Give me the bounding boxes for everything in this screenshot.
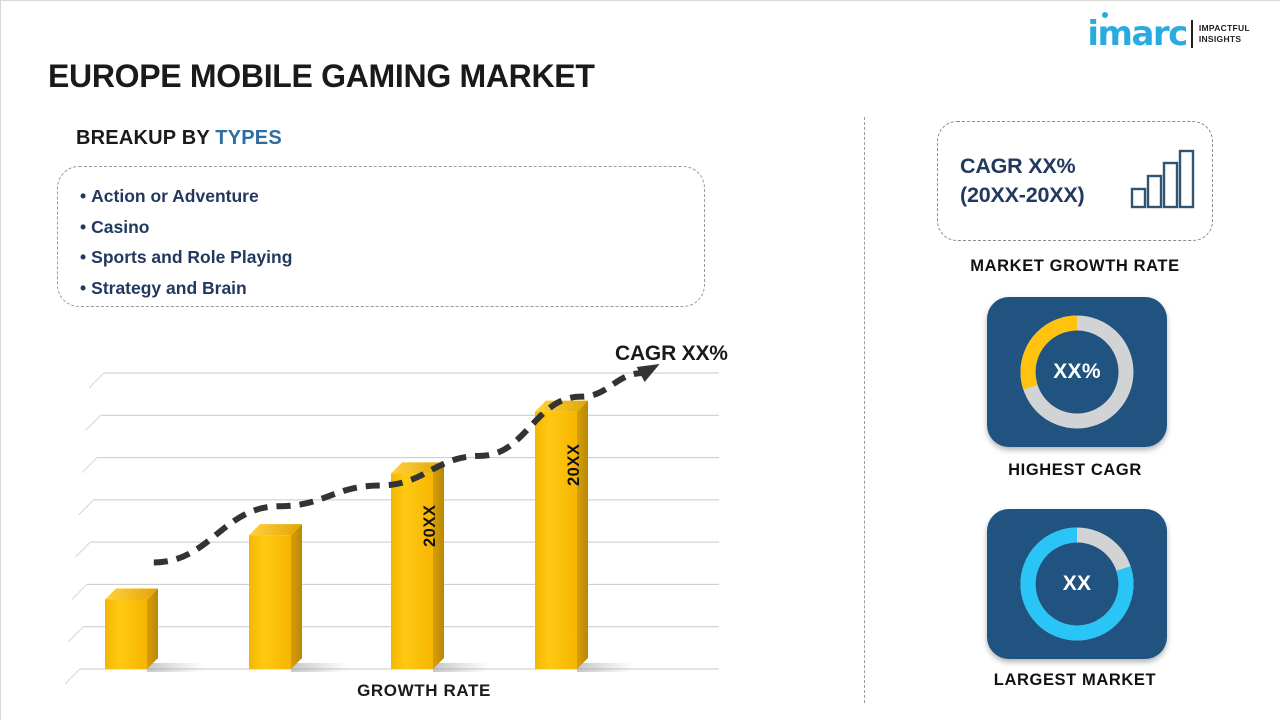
list-item: •Casino bbox=[80, 212, 704, 243]
subtitle-highlight: TYPES bbox=[215, 127, 282, 149]
highest-cagr-donut: XX% bbox=[1012, 307, 1142, 437]
growth-rate-chart bbox=[61, 331, 761, 711]
bullet-icon: • bbox=[80, 278, 86, 298]
cagr-period: (20XX-20XX) bbox=[960, 181, 1084, 210]
list-item: •Action or Adventure bbox=[80, 181, 704, 212]
largest-market-tile: XX bbox=[987, 509, 1167, 659]
logo-wordmark: imarc bbox=[1087, 17, 1186, 51]
market-growth-rate-label: MARKET GROWTH RATE bbox=[875, 257, 1275, 276]
largest-market-donut: XX bbox=[1012, 519, 1142, 649]
list-item-label: Sports and Role Playing bbox=[91, 247, 292, 267]
logo-tagline-line2: INSIGHTS bbox=[1199, 34, 1250, 45]
chart-bars bbox=[105, 401, 588, 669]
logo-tagline: IMPACTFUL INSIGHTS bbox=[1199, 23, 1250, 46]
list-item-label: Casino bbox=[91, 217, 149, 237]
subtitle-prefix: BREAKUP BY bbox=[76, 127, 215, 149]
largest-market-label: LARGEST MARKET bbox=[875, 671, 1275, 690]
logo-tagline-line1: IMPACTFUL bbox=[1199, 23, 1250, 34]
bar-value-label: 20XX bbox=[421, 505, 440, 547]
bar-chart-icon bbox=[1130, 149, 1196, 214]
largest-market-value: XX bbox=[1012, 519, 1142, 649]
bullet-icon: • bbox=[80, 186, 86, 206]
highest-cagr-tile: XX% bbox=[987, 297, 1167, 447]
chart-axis-label: GROWTH RATE bbox=[289, 681, 559, 701]
chart-canvas bbox=[61, 331, 761, 711]
section-subtitle: BREAKUP BY TYPES bbox=[76, 127, 282, 150]
breakup-types-box: •Action or Adventure •Casino •Sports and… bbox=[57, 166, 705, 307]
cagr-text: CAGR XX% (20XX-20XX) bbox=[960, 152, 1084, 210]
highest-cagr-label: HIGHEST CAGR bbox=[875, 461, 1275, 480]
bullet-icon: • bbox=[80, 217, 86, 237]
list-item-label: Action or Adventure bbox=[91, 186, 259, 206]
bar-value-label: 20XX bbox=[565, 443, 584, 485]
cagr-value: CAGR XX% bbox=[960, 152, 1084, 181]
list-item: •Strategy and Brain bbox=[80, 273, 704, 304]
page-title: EUROPE MOBILE GAMING MARKET bbox=[48, 58, 595, 95]
chart-trend-label: CAGR XX% bbox=[615, 342, 728, 366]
imarc-logo: imarc IMPACTFUL INSIGHTS bbox=[1087, 15, 1250, 53]
highest-cagr-value: XX% bbox=[1012, 307, 1142, 437]
list-item-label: Strategy and Brain bbox=[91, 278, 247, 298]
list-item: •Sports and Role Playing bbox=[80, 242, 704, 273]
infographic-page: imarc IMPACTFUL INSIGHTS EUROPE MOBILE G… bbox=[0, 0, 1280, 720]
market-growth-rate-box: CAGR XX% (20XX-20XX) bbox=[937, 121, 1213, 241]
logo-divider bbox=[1191, 20, 1193, 48]
bullet-icon: • bbox=[80, 247, 86, 267]
vertical-divider bbox=[864, 117, 865, 703]
logo-wordmark-text: imarc bbox=[1087, 14, 1186, 54]
